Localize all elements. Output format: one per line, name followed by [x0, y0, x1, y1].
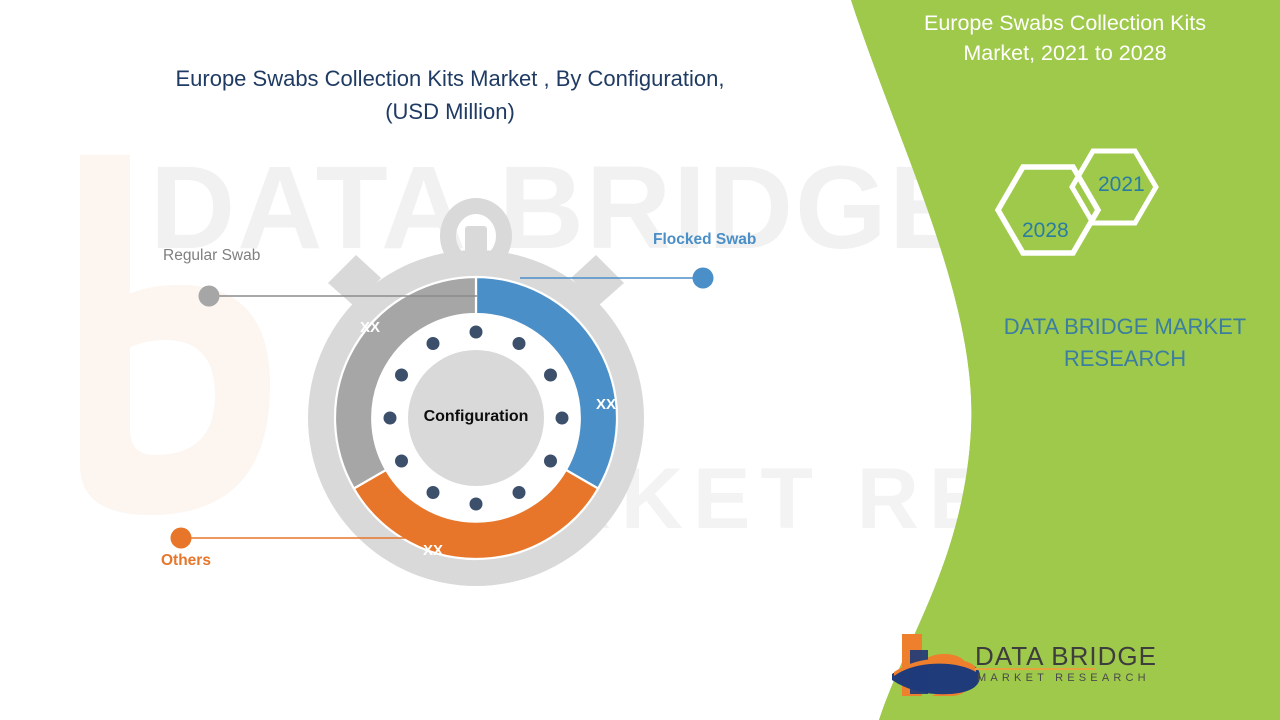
- callout-label-flocked-swab: Flocked Swab: [653, 231, 756, 249]
- callout-dot-regular-swab: [199, 286, 220, 307]
- callout-dot-others: [171, 528, 192, 549]
- callout-label-others: Others: [161, 552, 211, 570]
- infographic-canvas: DATA BRIDGE MARKET RESEARCH Europe Swabs…: [0, 0, 1280, 720]
- callout-leaders: [0, 0, 1280, 720]
- callout-label-regular-swab: Regular Swab: [163, 247, 260, 265]
- callout-dot-flocked-swab: [693, 268, 714, 289]
